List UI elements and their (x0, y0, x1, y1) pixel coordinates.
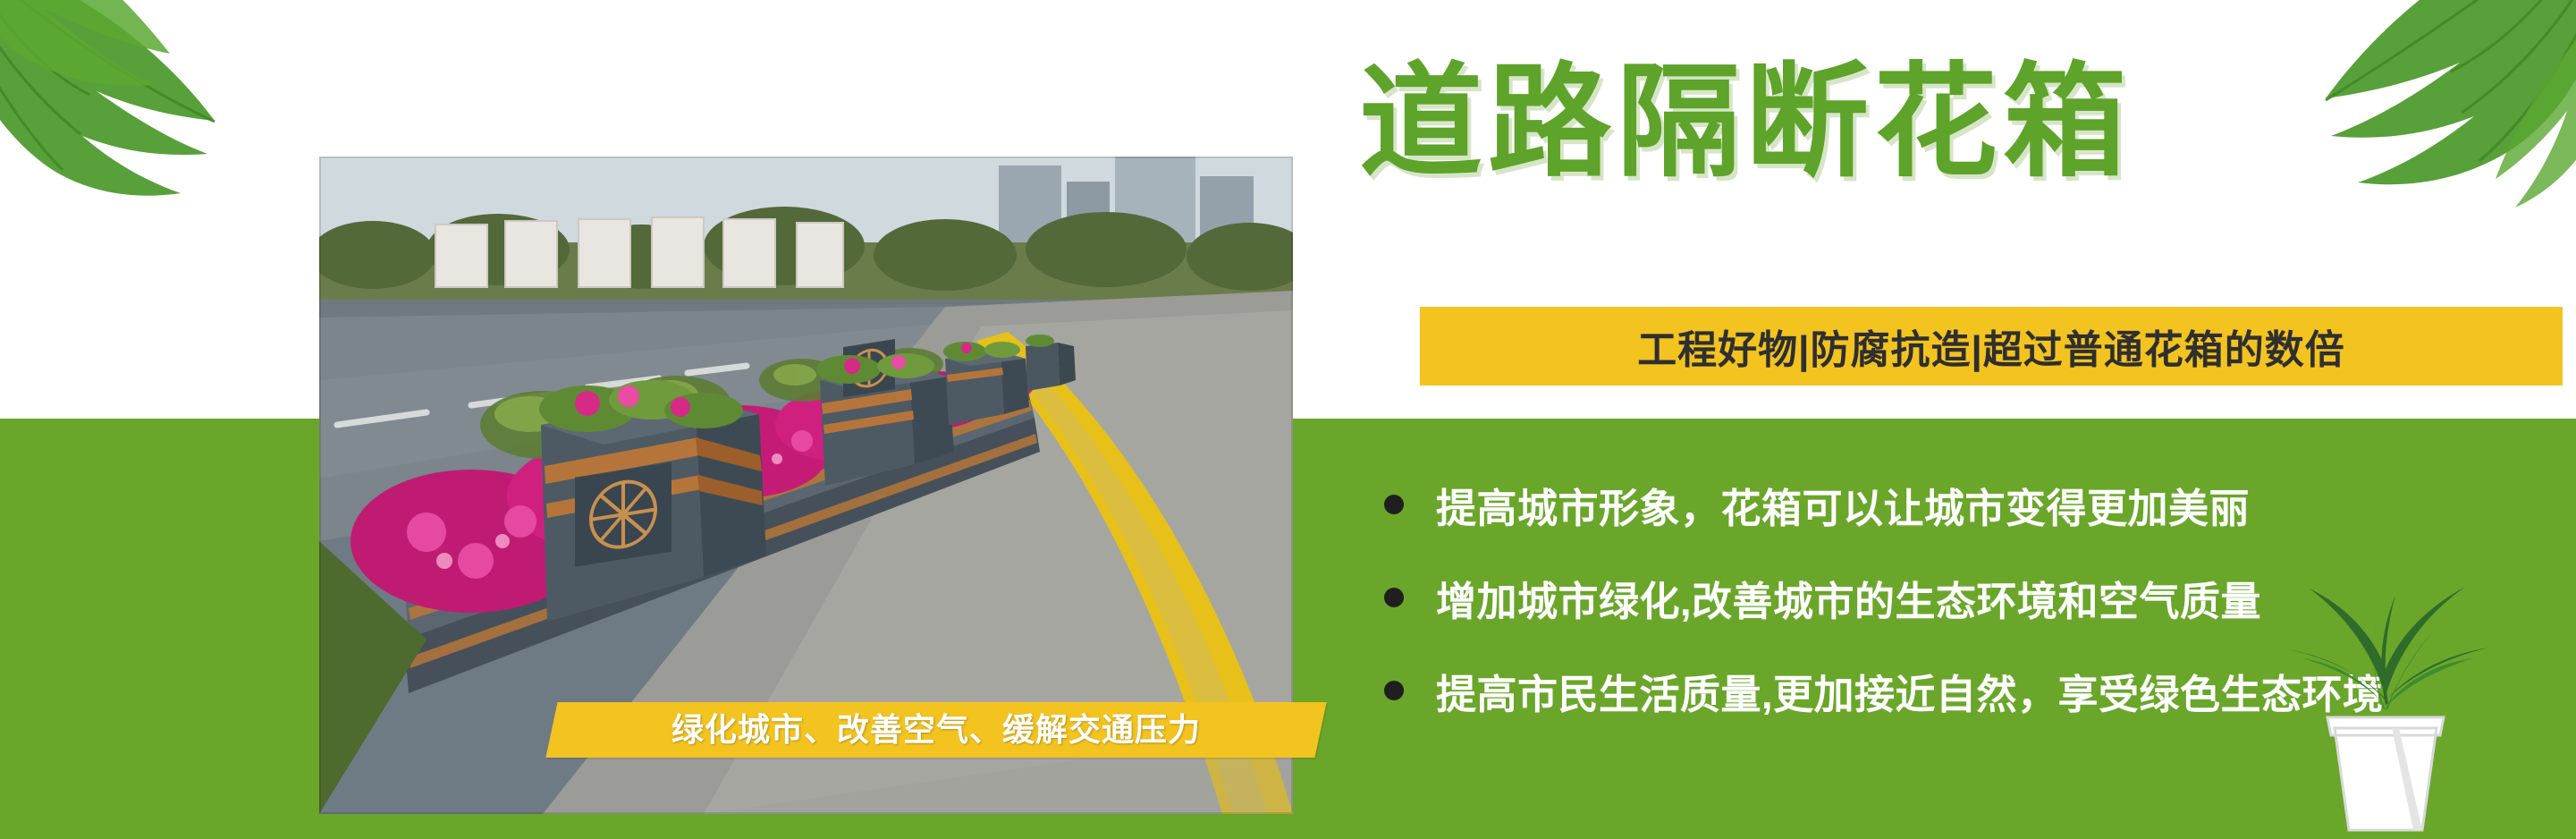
list-item-label: 增加城市绿化,改善城市的生态环境和空气质量 (1436, 569, 2261, 627)
list-item: 增加城市绿化,改善城市的生态环境和空气质量 (1384, 551, 2564, 644)
photo-caption-text: 绿化城市、改善空气、缓解交通压力 (552, 703, 1321, 757)
list-item: 提高城市形象，花箱可以让城市变得更加美丽 (1384, 458, 2564, 551)
sub-banner-text: 工程好物|防腐抗造|超过普通花箱的数倍 (1637, 318, 2345, 375)
bullet-dot-icon (1384, 495, 1404, 514)
feature-list: 提高城市形象，花箱可以让城市变得更加美丽 增加城市绿化,改善城市的生态环境和空气… (1384, 458, 2564, 737)
list-item-label: 提高城市形象，花箱可以让城市变得更加美丽 (1436, 476, 2250, 534)
promo-banner: 绿化城市、改善空气、缓解交通压力 道路隔断花箱 工程好物|防腐抗造|超过普通花箱… (0, 0, 2576, 839)
bullet-dot-icon (1384, 588, 1404, 607)
palm-leaf-icon (0, 0, 322, 250)
list-item-label: 提高市民生活质量,更加接近自然，享受绿色生态环境 (1436, 662, 2384, 720)
sub-banner: 工程好物|防腐抗造|超过普通花箱的数倍 (1420, 307, 2563, 386)
list-item: 提高市民生活质量,更加接近自然，享受绿色生态环境 (1384, 644, 2564, 737)
page-title: 道路隔断花箱 (1359, 61, 2132, 184)
bullet-dot-icon (1384, 681, 1404, 700)
palm-leaf-icon (2147, 0, 2576, 250)
